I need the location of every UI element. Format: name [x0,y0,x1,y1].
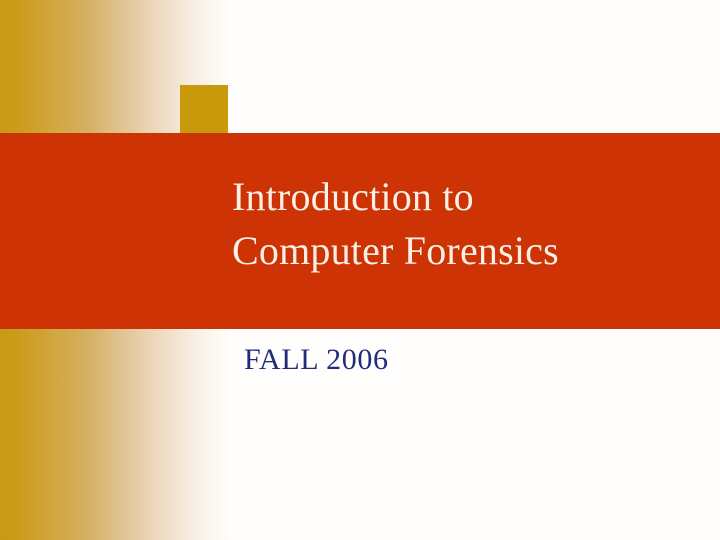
slide-title: Introduction to Computer Forensics [232,170,702,278]
slide-subtitle: FALL 2006 [244,342,389,378]
square-yellow-top [180,85,228,133]
title-slide: Introduction to Computer Forensics FALL … [0,0,720,540]
